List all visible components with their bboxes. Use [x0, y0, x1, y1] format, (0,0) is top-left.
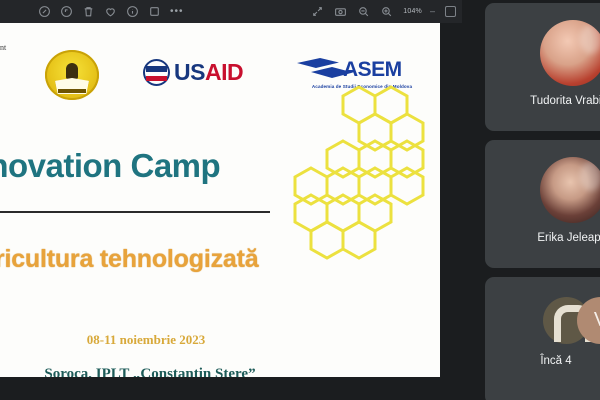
share-toolbar: ••• 104% –: [0, 0, 462, 23]
toolbar-left-group: •••: [38, 5, 184, 18]
seal-figure: [66, 63, 78, 79]
usaid-word-us: US: [174, 59, 205, 85]
more-participants-tile[interactable]: V Încă 4: [485, 277, 600, 400]
slide-date: 08-11 noiembrie 2023: [0, 332, 292, 348]
stop-share-icon[interactable]: [148, 5, 161, 18]
usaid-wordmark: USAID: [174, 61, 243, 84]
trash-icon[interactable]: [82, 5, 95, 18]
cut-off-header-text: nt: [0, 43, 6, 52]
undo-icon[interactable]: [60, 5, 73, 18]
slide-venue: Soroca, IPLT „Constantin Stere”: [0, 366, 330, 377]
restore-window-icon[interactable]: [445, 6, 456, 17]
heart-icon[interactable]: [104, 5, 117, 18]
title-divider: [0, 211, 270, 213]
zoom-in-icon[interactable]: [380, 5, 393, 18]
usaid-word-aid: AID: [205, 59, 243, 85]
participant-name: Erika Jeleap: [485, 232, 600, 244]
participant-name: Tudorita Vrabie: [485, 95, 600, 107]
school-seal-logo: [45, 50, 99, 100]
toolbar-right-group: 104%: [311, 5, 422, 18]
avatar: [540, 20, 600, 86]
usaid-emblem-icon: [143, 59, 170, 86]
slide-title: Innovation Camp: [0, 147, 300, 185]
participant-tile[interactable]: Tudorita Vrabie: [485, 3, 600, 131]
seal-base: [58, 89, 86, 93]
zoom-out-icon[interactable]: [357, 5, 370, 18]
camera-icon[interactable]: [334, 5, 347, 18]
fullscreen-icon[interactable]: [311, 5, 324, 18]
asem-diamond-icon: [297, 56, 353, 82]
shared-slide[interactable]: nt USAID ASEM Academia de Studii Economi…: [0, 23, 440, 377]
participants-sidebar: Tudorita Vrabie Erika Jeleap V Încă 4: [462, 0, 600, 400]
info-icon[interactable]: [126, 5, 139, 18]
asem-logo-top: ASEM: [297, 56, 427, 82]
more-participants-label: Încă 4: [485, 355, 600, 367]
avatar: [540, 157, 600, 223]
avatar-stack: V: [543, 297, 600, 345]
more-options-button[interactable]: •••: [170, 7, 184, 17]
slide-subtitle: Agricultura tehnologizată: [0, 245, 322, 274]
annotate-icon[interactable]: [38, 5, 51, 18]
usaid-logo: USAID: [143, 59, 243, 86]
screen-share-view: ••• 104% – nt: [0, 0, 600, 400]
slide-content: nt USAID ASEM Academia de Studii Economi…: [0, 23, 440, 377]
minimize-button[interactable]: –: [430, 7, 435, 16]
participant-tile[interactable]: Erika Jeleap: [485, 140, 600, 268]
zoom-level-label: 104%: [403, 8, 422, 15]
